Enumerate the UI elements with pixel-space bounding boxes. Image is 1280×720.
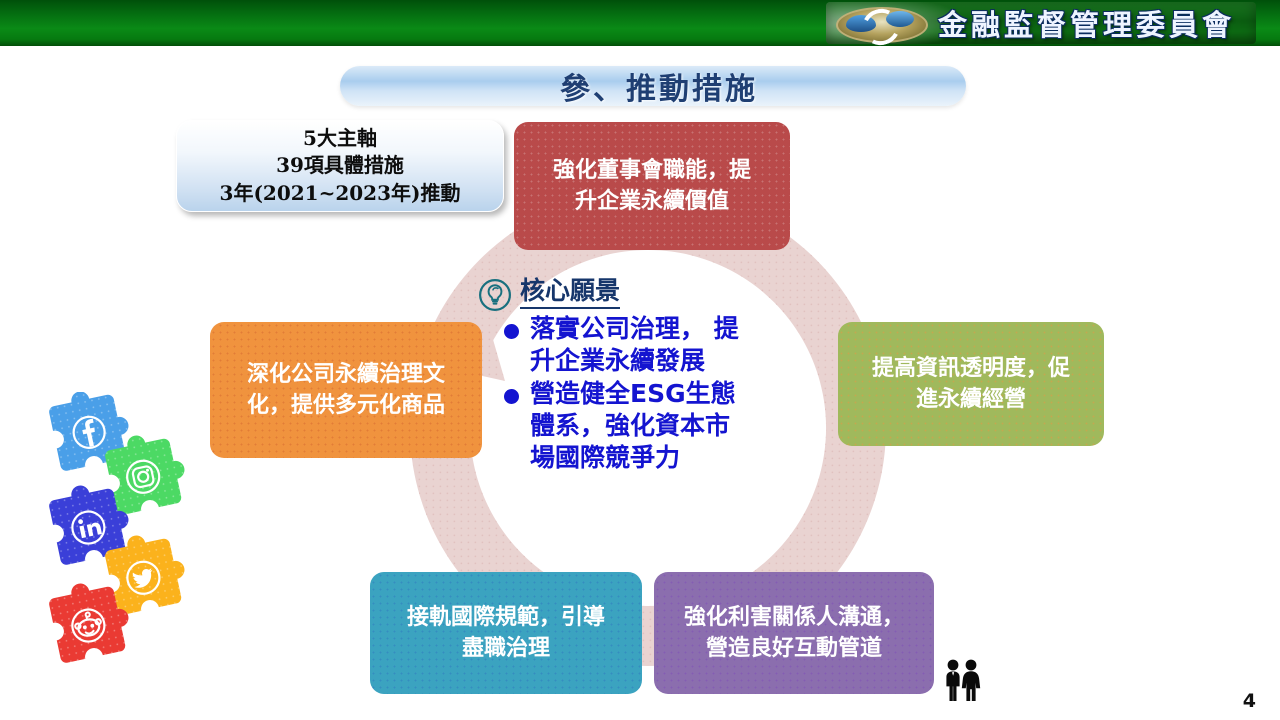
slide-canvas: 金融監督管理委員會 參、推動措施 5大主軸 39項具體措施 3年(2021: [0, 0, 1280, 720]
pillar-box-stakeholder[interactable]: 強化利害關係人溝通， 營造良好互動管道: [654, 572, 934, 694]
vision-bullet-2-line-3: 場國際競爭力: [530, 443, 680, 472]
vision-bullet-1-line-2: 升企業永續發展: [530, 346, 705, 375]
pillar-culture-line-2: 化，提供多元化商品: [247, 390, 445, 421]
organization-title: 金融監督管理委員會: [938, 2, 1235, 44]
summary-info-box: 5大主軸 39項具體措施 3年(2021~2023年)推動: [176, 120, 504, 212]
social-puzzle-cluster: [46, 392, 226, 672]
fsc-logo-icon: [832, 6, 928, 40]
pillar-box-culture[interactable]: 深化公司永續治理文 化，提供多元化商品: [210, 322, 482, 458]
pillar-international-line-2: 盡職治理: [407, 633, 605, 664]
vision-bullet-2: 營造健全ESG生態 體系，強化資本市 場國際競爭力: [496, 378, 828, 474]
pillar-international-line-1: 接軌國際規範，引導: [407, 602, 605, 633]
info-line-2: 39項具體措施: [276, 152, 404, 179]
top-banner: 金融監督管理委員會: [0, 0, 1280, 46]
slide-title-banner: 參、推動措施: [340, 66, 966, 106]
info-line-1: 5大主軸: [303, 125, 377, 152]
pillar-transparency-line-1: 提高資訊透明度，促: [872, 353, 1070, 384]
core-vision-list: 落實公司治理， 提 升企業永續發展 營造健全ESG生態 體系，強化資本市 場國際…: [496, 313, 828, 474]
pillar-box-international[interactable]: 接軌國際規範，引導 盡職治理: [370, 572, 642, 694]
lightbulb-icon: [478, 278, 512, 312]
pillar-box-transparency[interactable]: 提高資訊透明度，促 進永續經營: [838, 322, 1104, 446]
info-line-3: 3年(2021~2023年)推動: [220, 180, 461, 207]
pillar-board-line-2: 升企業永續價值: [553, 186, 751, 217]
vision-bullet-2-line-1: 營造健全ESG生態: [530, 379, 736, 408]
pillar-stakeholder-line-2: 營造良好互動管道: [684, 633, 904, 664]
pillar-stakeholder-line-1: 強化利害關係人溝通，: [684, 602, 904, 633]
core-vision-title: 核心願景: [520, 276, 620, 309]
pillar-box-board[interactable]: 強化董事會職能，提 升企業永續價值: [514, 122, 790, 250]
pillar-transparency-line-2: 進永續經營: [872, 384, 1070, 415]
pillar-culture-line-1: 深化公司永續治理文: [247, 359, 445, 390]
pillar-board-line-1: 強化董事會職能，提: [553, 155, 751, 186]
page-number: 4: [1243, 690, 1256, 712]
vision-bullet-1-line-1: 落實公司治理， 提: [530, 314, 739, 343]
vision-bullet-2-line-2: 體系，強化資本市: [530, 411, 730, 440]
couple-icon: [938, 658, 986, 702]
fsc-logo-plate: 金融監督管理委員會: [826, 2, 1256, 44]
core-vision-block: 核心願景 落實公司治理， 提 升企業永續發展 營造健全ESG生態 體系，強化資本…: [478, 276, 828, 474]
vision-bullet-1: 落實公司治理， 提 升企業永續發展: [496, 313, 828, 377]
slide-title: 參、推動措施: [560, 64, 758, 108]
